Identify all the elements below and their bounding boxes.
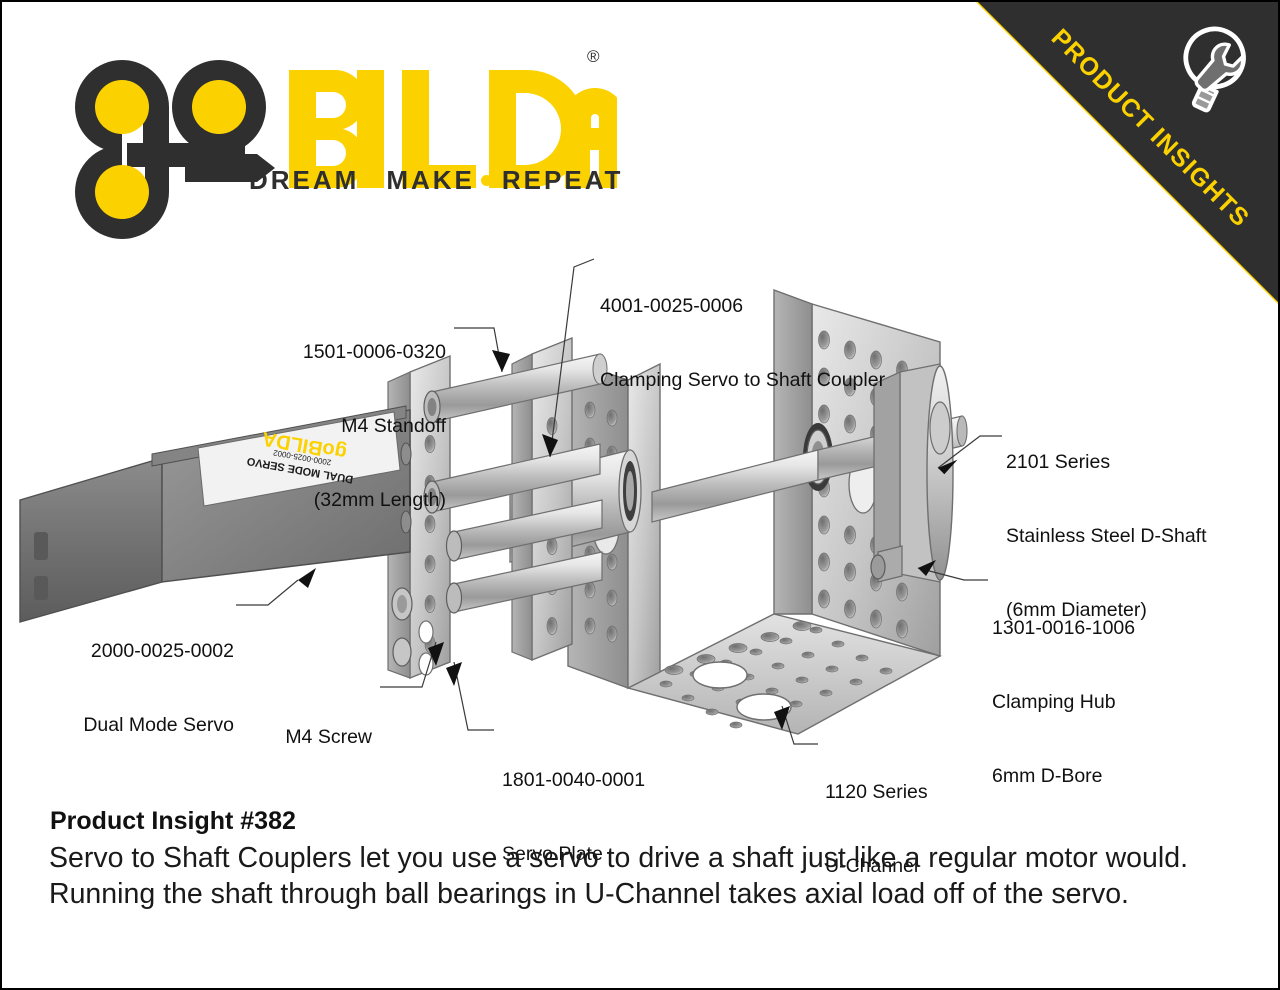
callout-coupler-name: Clamping Servo to Shaft Coupler [600,368,885,393]
brand-tagline: DREAMMAKEREPEAT [249,165,623,196]
callout-servo-name: Dual Mode Servo [60,713,234,738]
callout-dshaft-part-number: 2101 Series [1006,450,1207,475]
callout-coupler-part-number: 4001-0025-0006 [600,294,885,319]
callout-standoff: 1501-0006-0320 M4 Standoff (32mm Length) [274,291,446,561]
callout-u-channel-part-number: 1120 Series [825,780,928,805]
tagline-word-make: MAKE [386,165,475,195]
gobilda-logo [57,42,617,242]
callout-standoff-name: M4 Standoff [274,414,446,439]
ribbon-label: PRODUCT INSIGHTS [1034,12,1267,245]
callout-servo-part-number: 2000-0025-0002 [60,639,234,664]
product-insight-card: ® DREAMMAKEREPEAT PRODUCT INSIGHTS [0,0,1280,990]
callout-servo-plate-part-number: 1801-0040-0001 [502,768,645,793]
insight-body: Servo to Shaft Couplers let you use a se… [49,840,1239,913]
callout-clamping-hub-detail: 6mm D-Bore [992,764,1135,789]
tagline-dot-icon [365,175,376,186]
callout-coupler: 4001-0025-0006 Clamping Servo to Shaft C… [600,245,885,442]
callout-clamping-hub: 1301-0016-1006 Clamping Hub 6mm D-Bore [992,567,1135,837]
callout-standoff-detail: (32mm Length) [274,488,446,513]
callout-clamping-hub-part-number: 1301-0016-1006 [992,616,1135,641]
tagline-dot-icon [481,175,492,186]
callout-dshaft-name: Stainless Steel D-Shaft [1006,524,1207,549]
logo-go-mark [75,60,275,239]
callout-m4-screw: M4 Screw [272,676,372,799]
callout-m4-screw-name: M4 Screw [272,725,372,750]
callout-standoff-part-number: 1501-0006-0320 [274,340,446,365]
registered-trademark-mark: ® [587,47,600,67]
callout-clamping-hub-name: Clamping Hub [992,690,1135,715]
tagline-word-repeat: REPEAT [502,165,624,195]
insight-title: Product Insight #382 [50,807,296,836]
tagline-word-dream: DREAM [249,165,359,195]
callout-servo: 2000-0025-0002 Dual Mode Servo [60,590,234,787]
lightbulb-wrench-icon [1164,20,1260,116]
